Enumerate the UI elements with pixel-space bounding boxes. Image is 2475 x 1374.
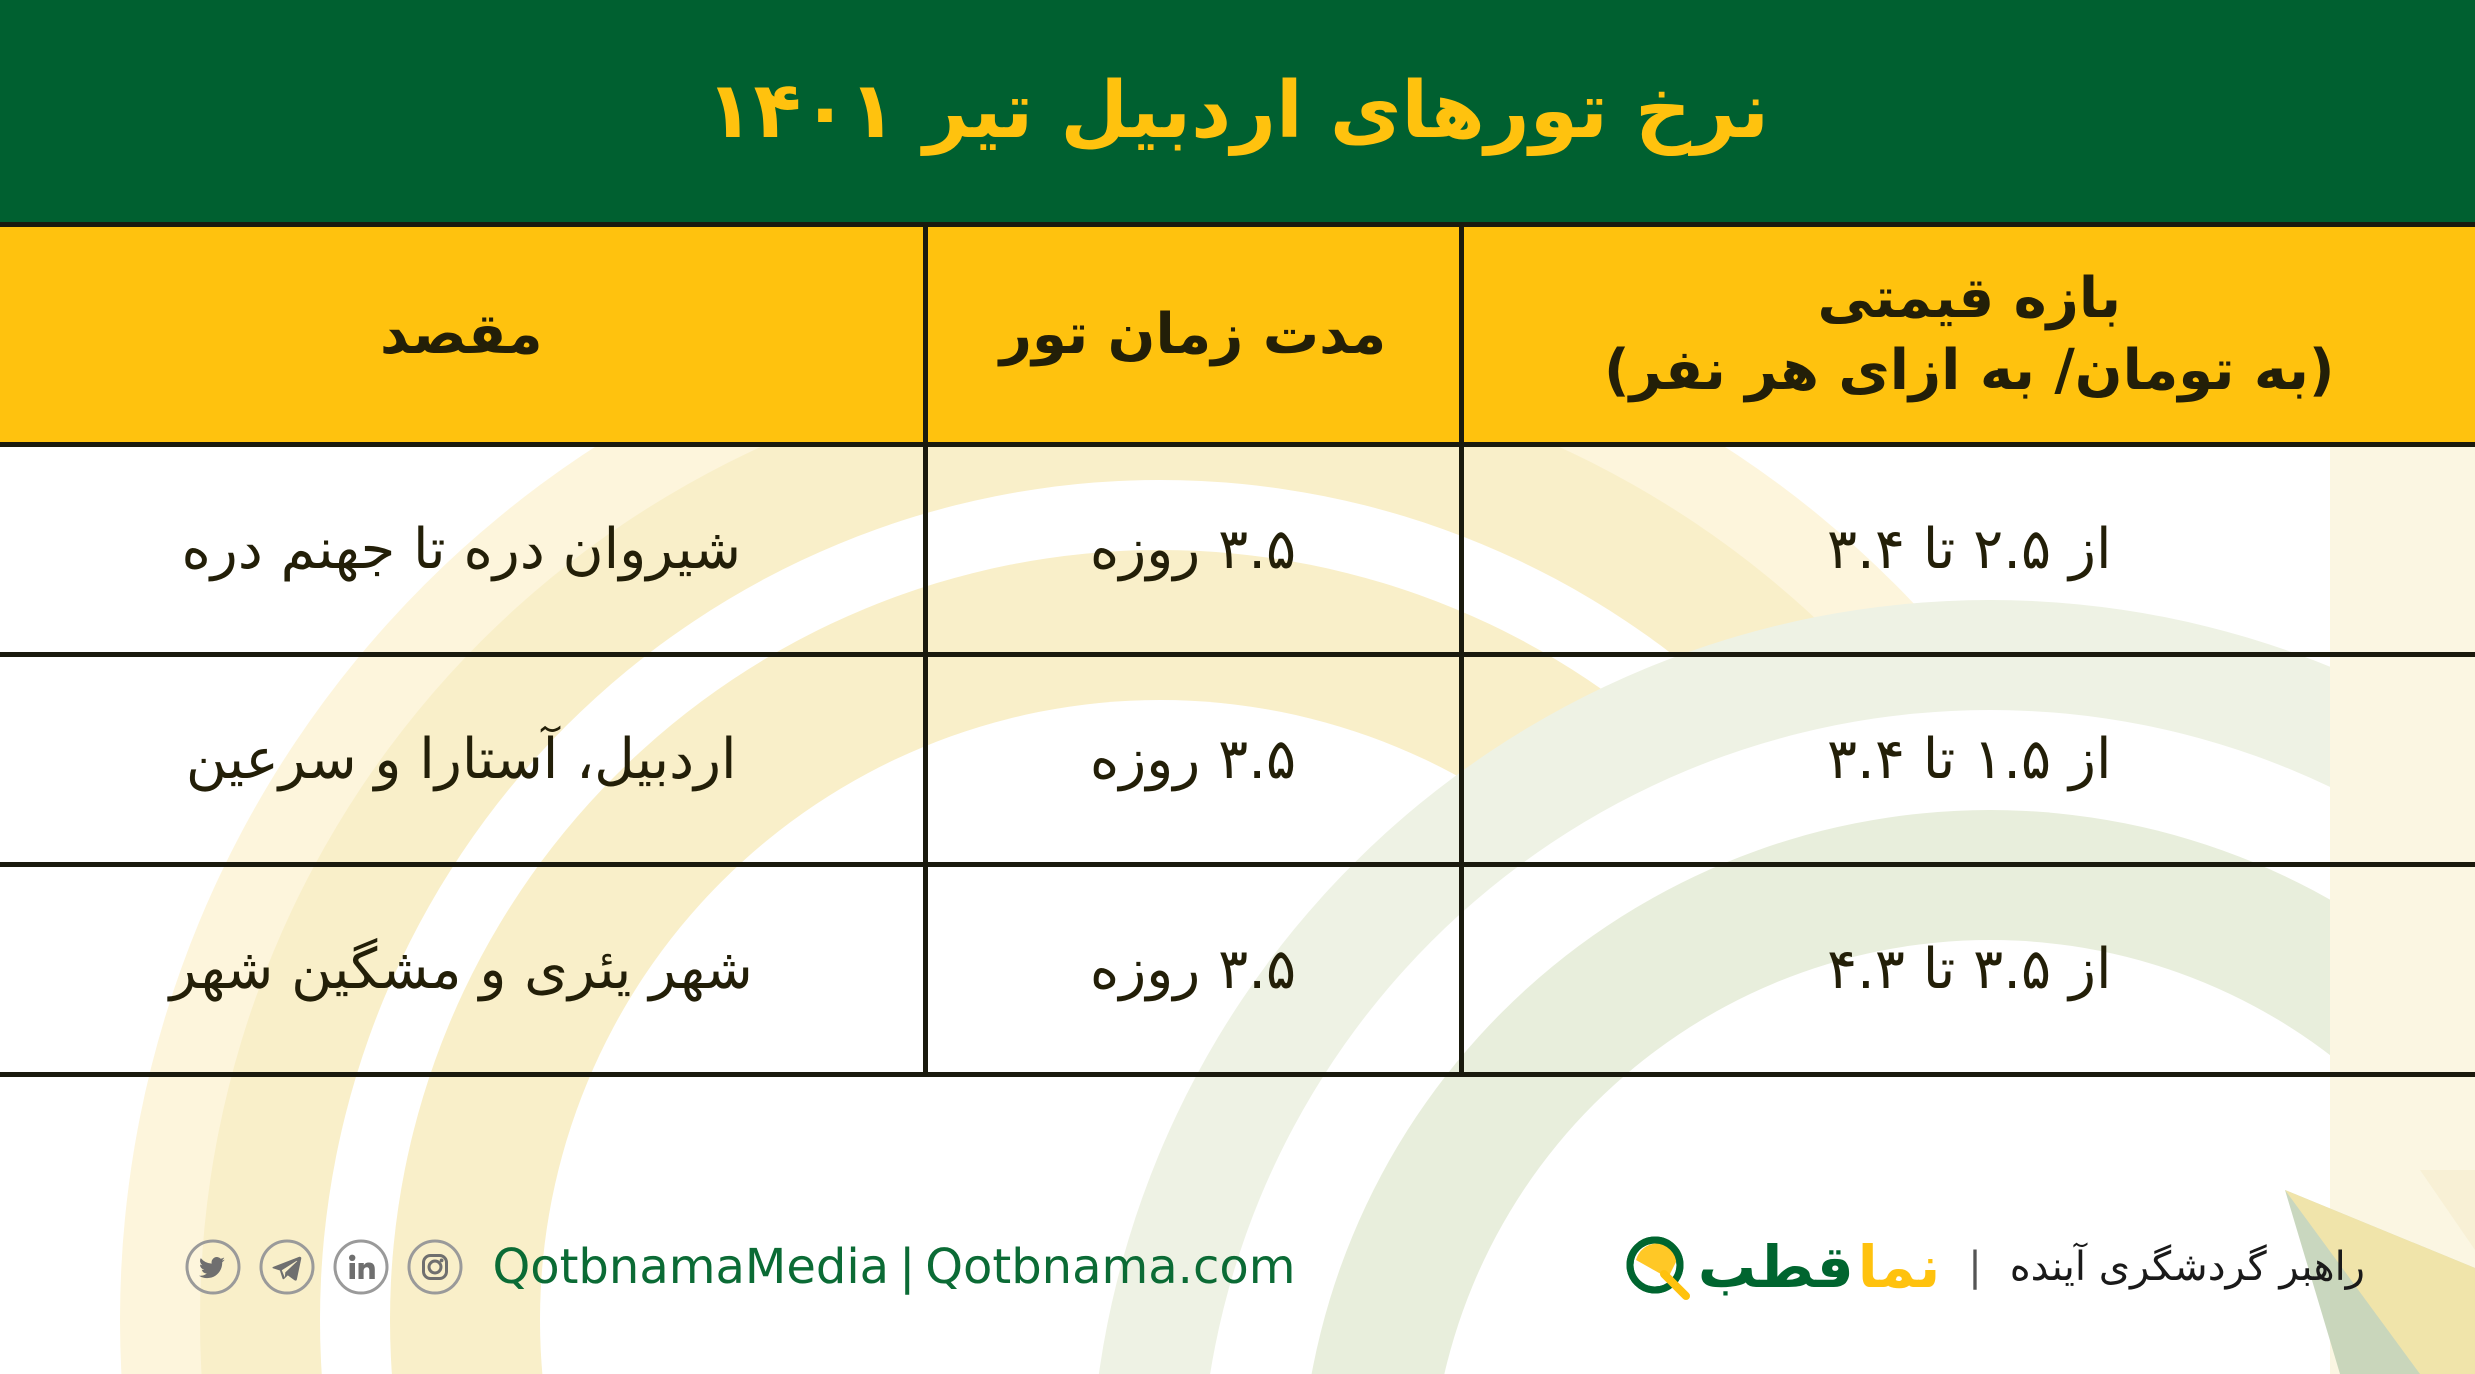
- social-handle[interactable]: QotbnamaMedia|Qotbnama.com: [492, 1239, 1295, 1295]
- social-handle-media: QotbnamaMedia: [492, 1239, 889, 1295]
- page-title: نرخ تورهای اردبیل تیر ۱۴۰۱: [706, 72, 1769, 150]
- brand-logo[interactable]: نما قطب: [1620, 1230, 1940, 1304]
- cell-price: از ۲.۵ تا ۳.۴: [1461, 445, 2475, 655]
- cell-destination: شهر یئری و مشگین شهر: [0, 865, 925, 1075]
- cell-destination: شیروان دره تا جهنم دره: [0, 445, 925, 655]
- column-header-duration: مدت زمان تور: [925, 225, 1461, 445]
- table-row: از ۱.۵ تا ۳.۴ ۳.۵ روزه اردبیل، آستارا و …: [0, 655, 2475, 865]
- table-row: از ۲.۵ تا ۳.۴ ۳.۵ روزه شیروان دره تا جهن…: [0, 445, 2475, 655]
- linkedin-icon[interactable]: [332, 1238, 390, 1296]
- cell-duration: ۳.۵ روزه: [925, 655, 1461, 865]
- brand-separator: |: [1962, 1244, 1987, 1290]
- twitter-icon[interactable]: [184, 1238, 242, 1296]
- social-handle-separator: |: [889, 1239, 925, 1295]
- column-header-price-line1: بازه قیمتی: [1478, 263, 2462, 335]
- cell-price: از ۳.۵ تا ۴.۳: [1461, 865, 2475, 1075]
- telegram-icon[interactable]: [258, 1238, 316, 1296]
- compass-q-icon: [1620, 1230, 1694, 1304]
- cell-destination: اردبیل، آستارا و سرعین: [0, 655, 925, 865]
- table-header-row: بازه قیمتی (به تومان/ به ازای هر نفر) مد…: [0, 225, 2475, 445]
- table-row: از ۳.۵ تا ۴.۳ ۳.۵ روزه شهر یئری و مشگین …: [0, 865, 2475, 1075]
- instagram-icon[interactable]: [406, 1238, 464, 1296]
- logo-word-qotb: قطب: [1698, 1233, 1854, 1301]
- table-body: از ۲.۵ تا ۳.۴ ۳.۵ روزه شیروان دره تا جهن…: [0, 445, 2475, 1075]
- brand-block: راهبر گردشگری آینده | نما قطب: [1620, 1230, 2365, 1304]
- social-handle-website: Qotbnama.com: [925, 1239, 1295, 1295]
- social-block: QotbnamaMedia|Qotbnama.com: [184, 1238, 1295, 1296]
- cell-duration: ۳.۵ روزه: [925, 865, 1461, 1075]
- column-header-destination-line1: مقصد: [14, 299, 909, 371]
- column-header-price-line2: (به تومان/ به ازای هر نفر): [1478, 335, 2462, 407]
- cell-duration: ۳.۵ روزه: [925, 445, 1461, 655]
- brand-tagline: راهبر گردشگری آینده: [2010, 1244, 2365, 1290]
- cell-price: از ۱.۵ تا ۳.۴: [1461, 655, 2475, 865]
- column-header-destination: مقصد: [0, 225, 925, 445]
- infographic-root: نرخ تورهای اردبیل تیر ۱۴۰۱ بازه قیمتی (ب…: [0, 0, 2475, 1374]
- tour-rates-table: بازه قیمتی (به تومان/ به ازای هر نفر) مد…: [0, 222, 2475, 1077]
- table-header: بازه قیمتی (به تومان/ به ازای هر نفر) مد…: [0, 225, 2475, 445]
- logo-word-nama: نما: [1858, 1233, 1940, 1301]
- title-bar: نرخ تورهای اردبیل تیر ۱۴۰۱: [0, 0, 2475, 222]
- column-header-price: بازه قیمتی (به تومان/ به ازای هر نفر): [1461, 225, 2475, 445]
- footer: راهبر گردشگری آینده | نما قطب: [0, 1160, 2475, 1374]
- column-header-duration-line1: مدت زمان تور: [942, 299, 1445, 371]
